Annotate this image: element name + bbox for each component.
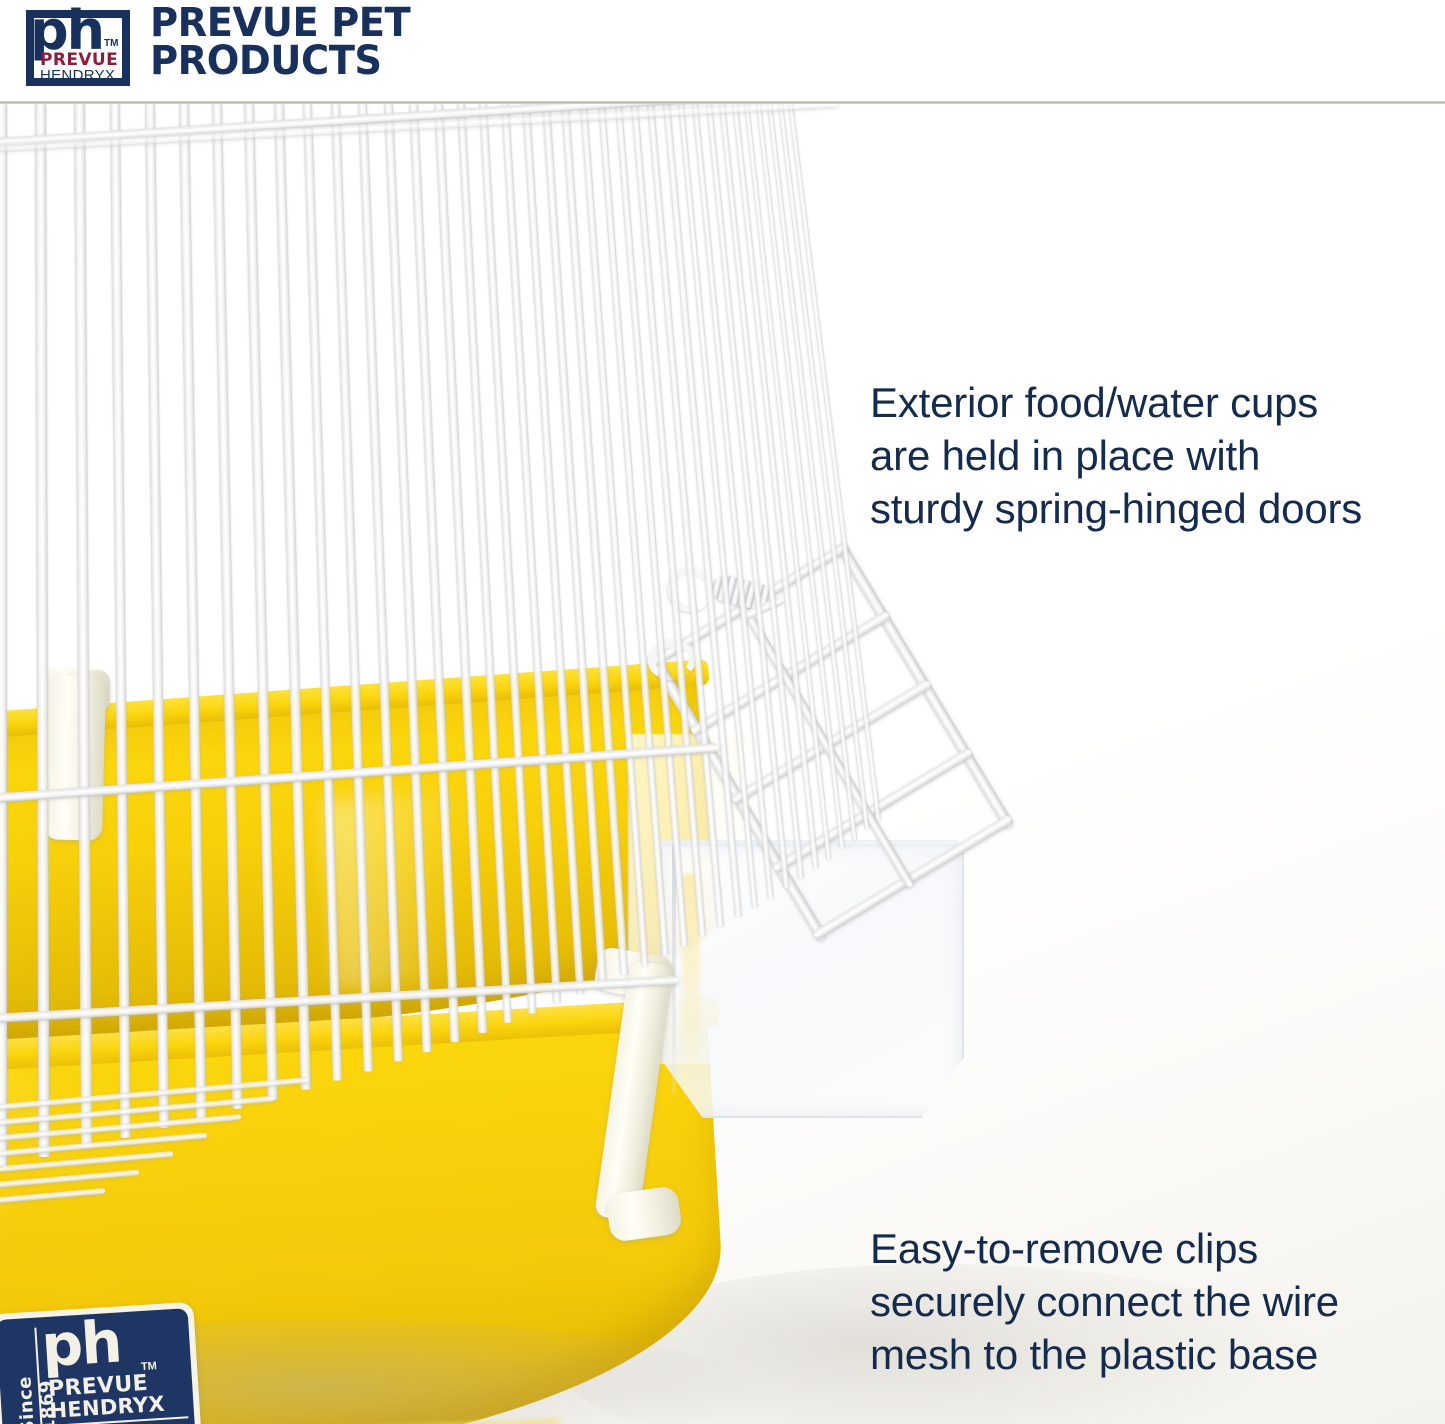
cage-wire-vertical (35, 104, 49, 1157)
brand-title: PREVUE PET PRODUCTS (150, 4, 670, 80)
product-photo: Since 1869 ph TM PREVUE HENDRYX www.prev… (0, 104, 1445, 1424)
cage-wire-vertical (74, 104, 92, 1147)
logo-hendryx-text: HENDRYX (40, 68, 115, 83)
badge-ph-text: ph (40, 1312, 122, 1375)
callout-exterior-cups: Exterior food/water cups are held in pla… (870, 376, 1370, 535)
product-feature-image: ph TM PREVUE HENDRYX PREVUE PET PRODUCTS (0, 0, 1445, 1424)
brand-header: ph TM PREVUE HENDRYX PREVUE PET PRODUCTS (0, 0, 1445, 104)
cage-wire-vertical (274, 104, 310, 1090)
brand-title-line-1: PREVUE PET (150, 4, 649, 42)
callout-easy-clips: Easy-to-remove clips securely connect th… (870, 1222, 1370, 1381)
header-divider (0, 101, 1445, 104)
wire-mesh-cage (0, 104, 820, 1164)
logo-tm-mark: TM (104, 38, 118, 49)
cage-wire-vertical (0, 104, 7, 1166)
cage-wire-vertical (244, 104, 277, 1100)
product-label-badge: Since 1869 ph TM PREVUE HENDRYX www.prev… (0, 1302, 203, 1424)
brand-title-line-2: PRODUCTS (150, 42, 649, 80)
cage-wire-vertical (110, 104, 131, 1138)
cage-wire-vertical (145, 104, 169, 1128)
cage-wire-vertical (179, 104, 206, 1119)
prevue-hendryx-logo-icon: ph TM PREVUE HENDRYX (26, 10, 130, 86)
cage-wire-vertical (647, 104, 724, 927)
cage-wire-vertical (212, 104, 242, 1109)
cage-wire-vertical (434, 104, 487, 1033)
